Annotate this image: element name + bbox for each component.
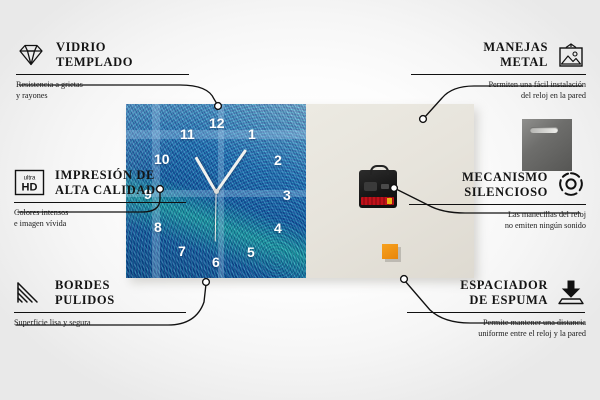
mechanism-dial	[364, 182, 377, 191]
callout-mecanismo-silencioso[interactable]: MECANISMO SILENCIOSO Las manecillas del …	[398, 170, 586, 231]
callout-subtitle-line2: del reloj en la pared	[400, 90, 586, 101]
callout-title-line1: ESPACIADOR	[396, 278, 548, 293]
callout-title-line1: MECANISMO	[398, 170, 548, 185]
callout-subtitle-line1: Las manecillas del reloj	[398, 209, 586, 220]
callout-title-line2: SILENCIOSO	[398, 185, 548, 200]
clock-numeral-12: 12	[209, 116, 225, 130]
diamond-icon	[16, 42, 46, 70]
foam-spacer	[382, 244, 398, 259]
callout-subtitle-line1: Permite mantener una distancia	[396, 317, 586, 328]
clock-numeral-4: 4	[274, 221, 282, 235]
callout-subtitle-line2: no emiten ningún sonido	[398, 220, 586, 231]
callout-divider	[411, 74, 586, 75]
callout-divider	[409, 204, 586, 205]
callout-bordes-pulidos[interactable]: BORDES PULIDOS Superficie lisa y segura	[14, 278, 204, 328]
callout-impresion-alta-calidad[interactable]: ultra HD IMPRESIÓN DE ALTA CALIDAD Color…	[14, 168, 204, 229]
polished-edge-icon	[14, 280, 44, 308]
callout-title-line1: MANEJAS	[400, 40, 548, 55]
infographic-canvas: 12 1 2 3 4 5 6 7 8 9 10 11	[0, 0, 600, 400]
clock-numeral-1: 1	[248, 127, 256, 141]
clock-numeral-10: 10	[154, 152, 170, 166]
clock-numeral-2: 2	[274, 153, 282, 167]
callout-vidrio-templado[interactable]: VIDRIO TEMPLADO Resistencia a grietas y …	[16, 40, 201, 101]
callout-title-line2: PULIDOS	[55, 293, 204, 308]
callout-divider	[16, 74, 189, 75]
callout-subtitle-line2: e imagen vívida	[14, 218, 204, 229]
callout-subtitle-line2: y rayones	[16, 90, 201, 101]
callout-subtitle-line1: Superficie lisa y segura	[14, 317, 204, 328]
clock-numeral-11: 11	[180, 127, 195, 141]
callout-title-line2: TEMPLADO	[56, 55, 201, 70]
metal-hanger-plate	[522, 119, 572, 171]
callout-title-line1: VIDRIO	[56, 40, 201, 55]
clock-numeral-7: 7	[178, 244, 186, 258]
hanger-slot	[530, 127, 558, 133]
mechanism-dial-secondary	[381, 184, 389, 189]
picture-frame-hanger-icon	[556, 42, 586, 70]
callout-divider	[14, 202, 186, 203]
callout-divider	[407, 312, 585, 313]
callout-title-line2: METAL	[400, 55, 548, 70]
battery	[361, 197, 394, 205]
foam-spacer-arrow-icon	[556, 279, 586, 307]
clock-center-pin	[214, 189, 219, 194]
ultra-hd-label-bottom: HD	[22, 182, 38, 194]
gear-icon	[556, 170, 586, 198]
callout-title-line1: IMPRESIÓN DE	[55, 168, 204, 183]
callout-subtitle-line1: Resistencia a grietas	[16, 79, 201, 90]
callout-subtitle-line1: Colores intensos	[14, 207, 204, 218]
callout-subtitle-line2: uniforme entre el reloj y la pared	[396, 328, 586, 339]
callout-divider	[14, 312, 186, 313]
quartz-mechanism	[359, 170, 397, 208]
callout-title-line1: BORDES	[55, 278, 204, 293]
callout-espaciador-espuma[interactable]: ESPACIADOR DE ESPUMA Permite mantener un…	[396, 278, 586, 339]
callout-title-line2: DE ESPUMA	[396, 293, 548, 308]
callout-subtitle-line1: Permiten una fácil instalación	[400, 79, 586, 90]
clock-numeral-3: 3	[283, 188, 291, 202]
clock-numeral-6: 6	[212, 255, 220, 269]
callout-manejas-metal[interactable]: MANEJAS METAL Permiten una fácil instala…	[400, 40, 586, 101]
ultra-hd-icon: ultra HD	[14, 169, 44, 197]
clock-numeral-5: 5	[247, 245, 255, 259]
callout-title-line2: ALTA CALIDAD	[55, 183, 204, 198]
mechanism-hanging-loop	[370, 165, 389, 175]
